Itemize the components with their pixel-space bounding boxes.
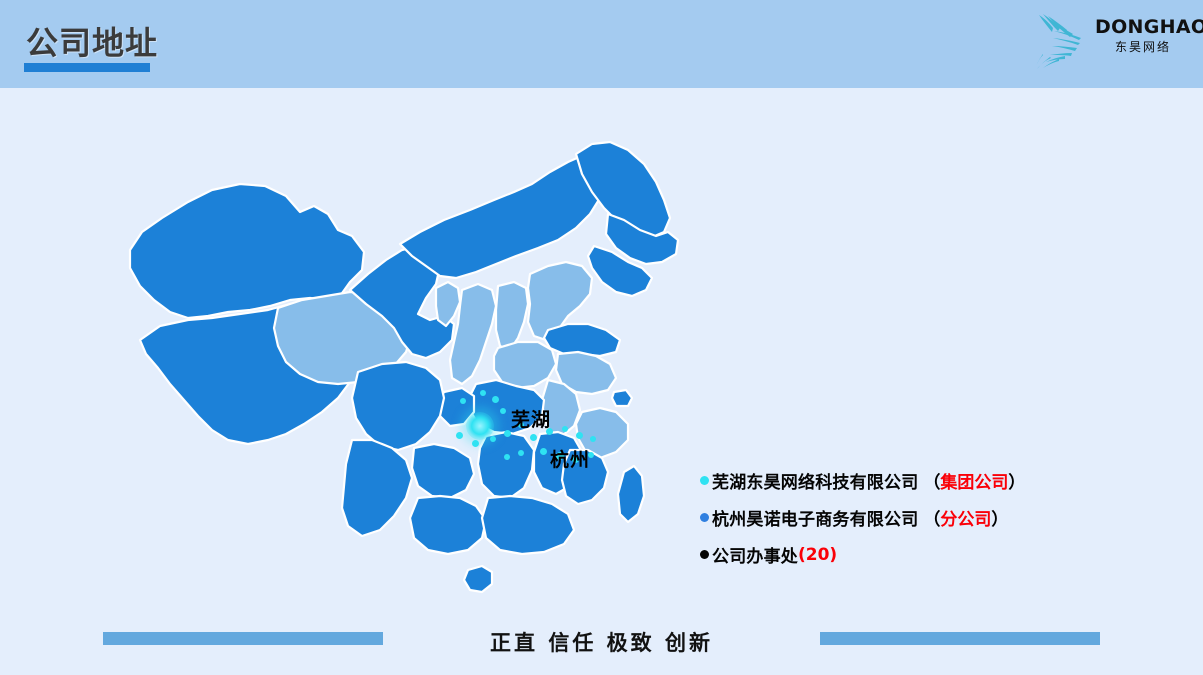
logo-chinese-name: 东昊网络: [1095, 39, 1191, 55]
province-hainan: [464, 566, 492, 592]
province-shandong: [544, 324, 620, 356]
province-hunan: [478, 432, 534, 498]
legend-bullet-icon: [700, 513, 709, 522]
logo-text-block: DONGHAO 东昊网络: [1095, 16, 1191, 55]
province-guangdong: [482, 496, 574, 554]
map-marker-office[interactable]: [460, 398, 466, 404]
legend-badge-group-company: 集团公司: [940, 468, 1008, 493]
map-marker-office[interactable]: [518, 450, 524, 456]
map-marker-office[interactable]: [504, 430, 511, 437]
province-yunnan: [342, 440, 412, 536]
legend: 芜湖东昊网络科技有限公司 （ 集团公司 ） 杭州昊诺电子商务有限公司 （ 分公司…: [700, 462, 1120, 573]
province-shanghai: [612, 390, 632, 406]
map-marker-office[interactable]: [490, 436, 496, 442]
legend-paren-close: ）: [991, 505, 1008, 530]
map-marker-wuhu-hq[interactable]: [466, 412, 494, 440]
legend-bullet-icon: [700, 550, 709, 559]
province-ningxia: [436, 282, 460, 326]
legend-bullet-icon: [700, 476, 709, 485]
province-guangxi: [410, 496, 486, 554]
legend-office-count: (20): [798, 545, 837, 565]
map-marker-office[interactable]: [472, 440, 479, 447]
map-marker-office[interactable]: [540, 448, 547, 455]
page-title: 公司地址: [26, 18, 158, 64]
legend-label: 杭州昊诺电子商务有限公司: [712, 505, 918, 530]
legend-item-branch-company[interactable]: 杭州昊诺电子商务有限公司 （ 分公司 ）: [700, 499, 1120, 536]
map-city-label-wuhu: 芜湖: [511, 405, 551, 432]
slide-canvas: 公司地址: [0, 0, 1203, 675]
map-marker-office[interactable]: [576, 432, 583, 439]
map-marker-office[interactable]: [456, 432, 463, 439]
map-marker-office[interactable]: [480, 390, 486, 396]
province-inner-mongolia: [400, 154, 604, 278]
province-guizhou: [412, 444, 474, 498]
donghao-wing-logo-icon: [1029, 8, 1095, 72]
brand-logo: DONGHAO 东昊网络: [1021, 4, 1191, 76]
china-map-svg: [100, 140, 710, 610]
legend-item-group-company[interactable]: 芜湖东昊网络科技有限公司 （ 集团公司 ）: [700, 462, 1120, 499]
footer-bar-right: [820, 632, 1100, 645]
legend-paren-close: ）: [1008, 468, 1025, 493]
legend-badge-branch-company: 分公司: [940, 505, 991, 530]
province-sichuan: [352, 362, 444, 450]
legend-label: 公司办事处: [712, 542, 798, 567]
legend-paren-open: （: [923, 505, 940, 530]
province-taiwan: [618, 466, 644, 522]
china-map[interactable]: 芜湖 杭州: [100, 140, 710, 610]
legend-paren-open: （: [923, 468, 940, 493]
map-marker-office[interactable]: [590, 436, 596, 442]
title-underline-accent: [24, 63, 150, 72]
map-marker-office[interactable]: [562, 426, 568, 432]
logo-english-name: DONGHAO: [1095, 16, 1191, 38]
map-marker-office[interactable]: [500, 408, 506, 414]
map-marker-office[interactable]: [504, 454, 510, 460]
map-marker-office[interactable]: [530, 434, 537, 441]
map-marker-office[interactable]: [492, 396, 499, 403]
province-shanxi: [496, 282, 528, 350]
legend-label: 芜湖东昊网络科技有限公司: [712, 468, 918, 493]
map-city-label-hangzhou: 杭州: [550, 445, 590, 472]
legend-item-offices[interactable]: 公司办事处 (20): [700, 536, 1120, 573]
